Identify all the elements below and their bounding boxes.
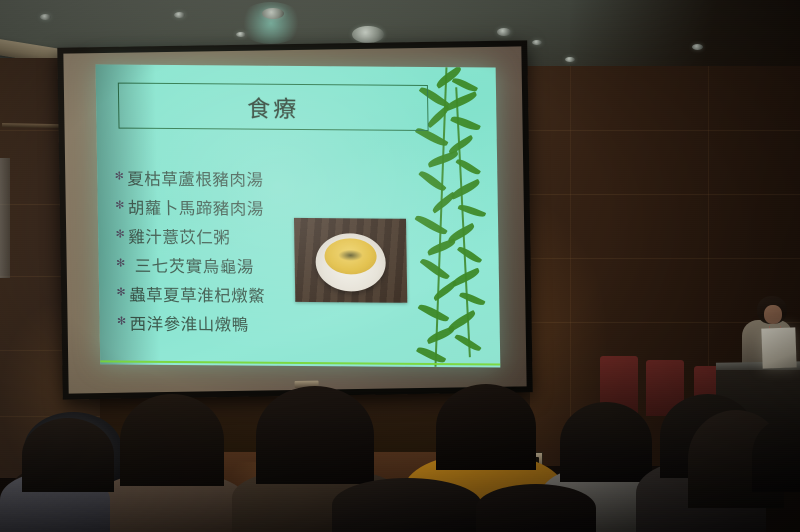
herbs-in-soup — [338, 250, 362, 261]
bullet-marker-icon: ✻ — [112, 229, 128, 240]
wall-light-strip — [0, 158, 10, 278]
downlight-icon — [352, 26, 384, 43]
list-item: ✻ 西洋參淮山燉鴨 — [113, 307, 364, 338]
downlight-icon — [692, 44, 703, 50]
list-item — [256, 386, 374, 484]
list-item-label: 西洋參淮山燉鴨 — [129, 310, 248, 335]
list-item — [332, 478, 482, 532]
list-item-label: 雞汁薏苡仁粥 — [128, 223, 230, 248]
list-item-label: 胡蘿卜馬蹄豬肉湯 — [128, 194, 264, 219]
downlight-icon — [174, 12, 185, 18]
bullet-marker-icon: ✻ — [113, 287, 129, 298]
list-item — [22, 418, 114, 492]
downlight-icon — [40, 14, 51, 20]
slide-title-box: 食療 — [118, 83, 429, 131]
projection-screen: 食療 ✻ 夏枯草蘆根豬肉湯 ✻ 胡蘿卜馬蹄豬肉湯 ✻ 雞汁薏苡仁粥 ✻ — [57, 40, 532, 399]
downlight-icon — [262, 8, 284, 19]
bullet-marker-icon: ✻ — [111, 171, 127, 182]
downlight-icon — [565, 57, 575, 62]
list-item-label: 夏枯草蘆根豬肉湯 — [127, 165, 263, 190]
slide-photo-soup-bowl — [294, 218, 407, 303]
list-item-label: 三七芡實烏龜湯 — [128, 252, 253, 277]
list-item — [436, 384, 536, 470]
slide-title: 食療 — [247, 90, 300, 124]
downlight-icon — [236, 32, 246, 37]
downlight-icon — [532, 40, 542, 45]
list-item: ✻ 夏枯草蘆根豬肉湯 — [111, 162, 362, 193]
open-laptop — [761, 327, 796, 368]
list-item-label: 蟲草夏草淮杞燉鱉 — [129, 281, 265, 306]
downlight-icon — [497, 28, 511, 36]
bullet-marker-icon: ✻ — [112, 200, 128, 211]
lecture-hall-photo: 食療 ✻ 夏枯草蘆根豬肉湯 ✻ 胡蘿卜馬蹄豬肉湯 ✻ 雞汁薏苡仁粥 ✻ — [0, 0, 800, 532]
bowl-shape — [315, 233, 386, 292]
bullet-marker-icon: ✻ — [113, 316, 129, 327]
list-item — [120, 394, 224, 486]
list-item — [560, 402, 652, 482]
bullet-marker-icon: ✻ — [113, 258, 129, 269]
list-item — [476, 484, 596, 532]
list-item — [752, 420, 800, 492]
presenter-face — [764, 305, 782, 324]
soup-surface — [324, 238, 377, 274]
projected-slide: 食療 ✻ 夏枯草蘆根豬肉湯 ✻ 胡蘿卜馬蹄豬肉湯 ✻ 雞汁薏苡仁粥 ✻ — [96, 64, 501, 367]
